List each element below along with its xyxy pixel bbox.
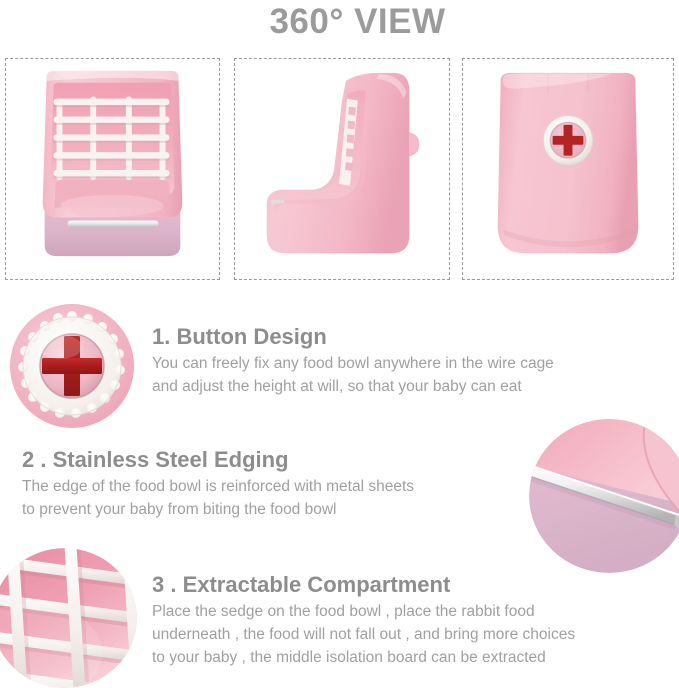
feature-1-line-1: You can freely fix any food bowl anywher…: [152, 353, 554, 376]
grid-sedge-closeup-icon: [0, 548, 137, 688]
back-view-image: [463, 59, 673, 279]
feature-2-image: [529, 419, 679, 573]
steel-edge-closeup-icon: [529, 419, 679, 573]
feature-1-line-2: and adjust the height at will, so that y…: [152, 376, 554, 399]
front-view-image: [6, 59, 219, 279]
feature-3-line-1: Place the sedge on the food bowl , place…: [152, 601, 575, 624]
feature-2-line-1: The edge of the food bowl is reinforced …: [22, 476, 414, 499]
feature-3: 3 . Extractable Compartment Place the se…: [152, 572, 575, 670]
product-views-row: [5, 58, 674, 280]
panel-side-view: [234, 58, 450, 280]
feature-2-heading: 2 . Stainless Steel Edging: [22, 447, 414, 473]
panel-back-view: [462, 58, 674, 280]
feature-1-body: You can freely fix any food bowl anywher…: [152, 353, 554, 399]
feature-2-line-2: to prevent your baby from biting the foo…: [22, 499, 414, 522]
feature-1: 1. Button Design You can freely fix any …: [152, 324, 554, 399]
feature-3-heading: 3 . Extractable Compartment: [152, 572, 575, 598]
panel-front-view: [5, 58, 220, 280]
feature-1-image: [4, 303, 140, 429]
page-title: 360° VIEW: [0, 2, 679, 42]
feature-3-line-2: underneath , the food will not fall out …: [152, 624, 575, 647]
infographic-page: 360° VIEW: [0, 0, 679, 682]
feature-2: 2 . Stainless Steel Edging The edge of t…: [22, 447, 414, 522]
button-closeup-icon: [4, 303, 140, 429]
feature-3-line-3: to your baby , the middle isolation boar…: [152, 647, 575, 670]
side-view-image: [235, 59, 449, 279]
feature-3-body: Place the sedge on the food bowl , place…: [152, 601, 575, 670]
feature-3-image: [0, 548, 137, 688]
feature-1-heading: 1. Button Design: [152, 324, 554, 350]
feature-2-body: The edge of the food bowl is reinforced …: [22, 476, 414, 522]
